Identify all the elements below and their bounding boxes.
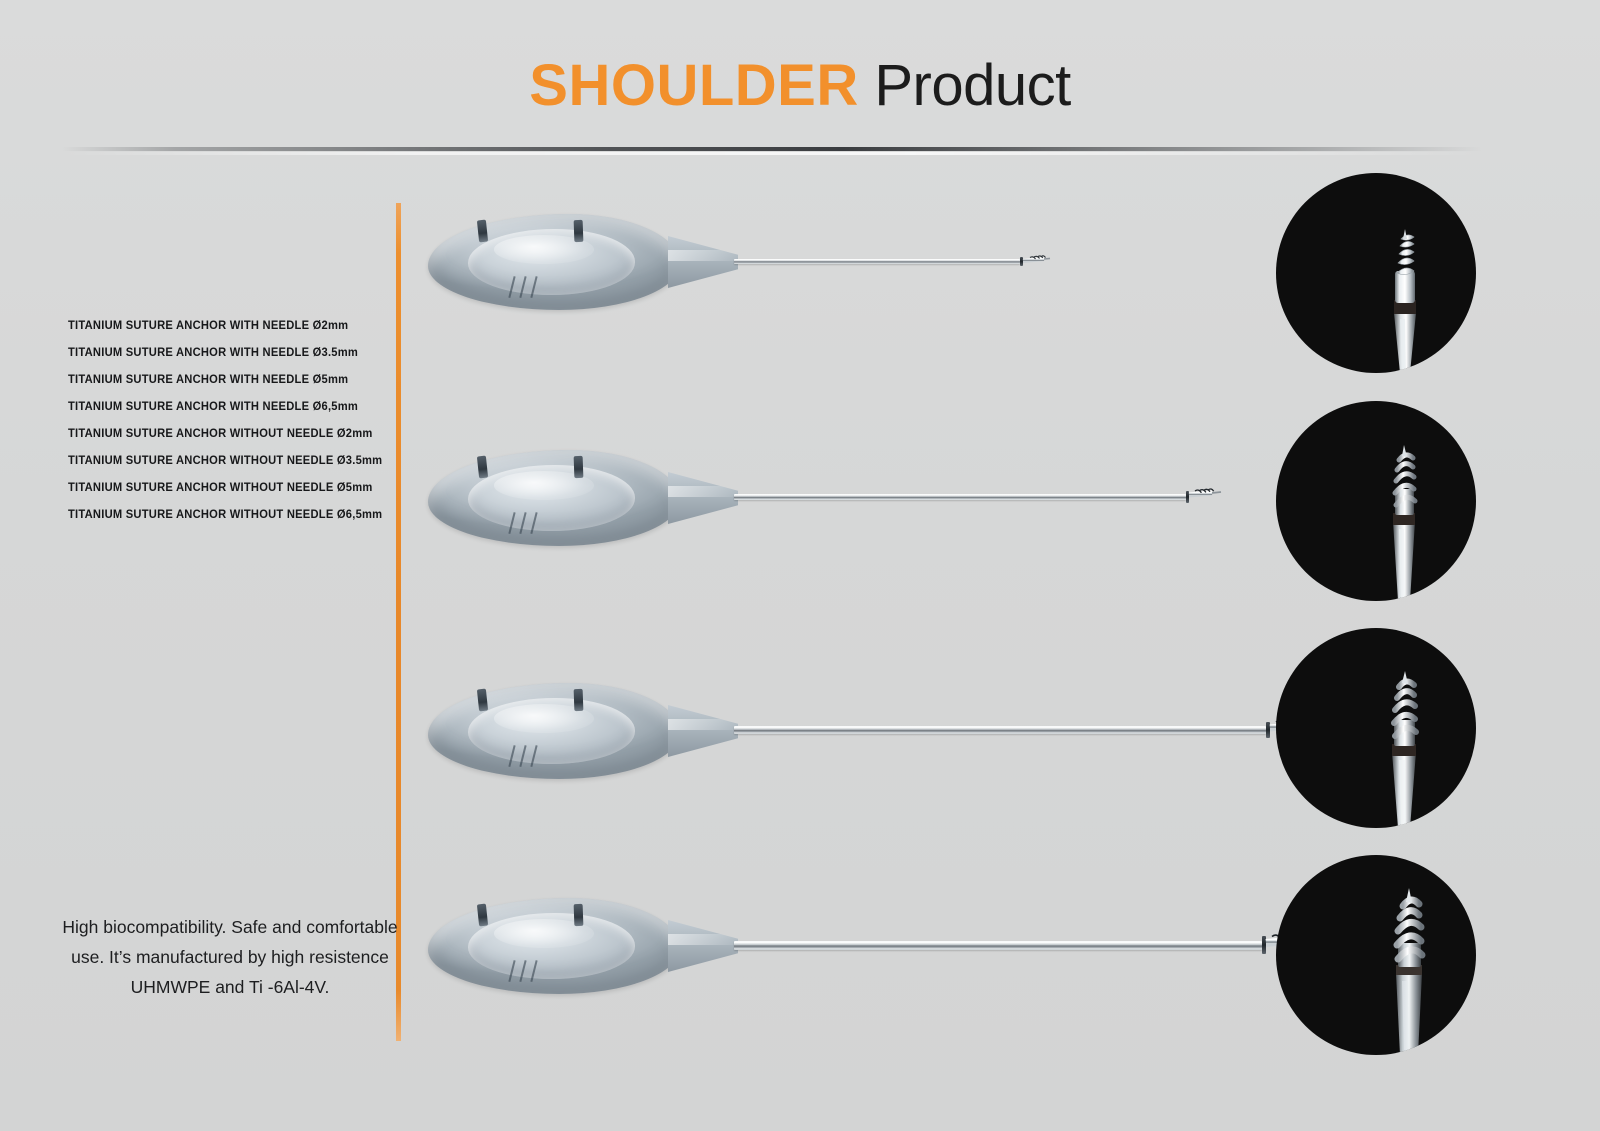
suture-anchor-driver-3-5mm bbox=[420, 432, 1250, 562]
product-description: High biocompatibility. Safe and comforta… bbox=[60, 912, 400, 1002]
handle-grip-lines bbox=[511, 960, 551, 982]
instrument-shaft bbox=[734, 259, 1020, 264]
instrument-neck bbox=[668, 236, 738, 288]
spec-list-item: TITANIUM SUTURE ANCHOR WITH NEEDLE Ø6,5m… bbox=[68, 394, 388, 421]
instrument-neck bbox=[668, 472, 738, 524]
handle-grip-lines bbox=[511, 276, 551, 298]
header-divider-highlight bbox=[62, 152, 1482, 155]
instrument-shaft bbox=[734, 941, 1262, 950]
anchor-tip-icon bbox=[1188, 480, 1224, 510]
instrument-neck bbox=[668, 920, 738, 972]
anchor-tip-icon bbox=[1022, 248, 1052, 274]
anchor-tip-closeup-3-5mm bbox=[1276, 401, 1476, 601]
instrument-handle bbox=[428, 450, 680, 546]
spec-list-item: TITANIUM SUTURE ANCHOR WITHOUT NEEDLE Ø3… bbox=[68, 448, 388, 475]
specification-list: TITANIUM SUTURE ANCHOR WITH NEEDLE Ø2mm … bbox=[68, 313, 398, 529]
anchor-tip-closeup-6-5mm bbox=[1276, 855, 1476, 1055]
spec-list-item: TITANIUM SUTURE ANCHOR WITHOUT NEEDLE Ø5… bbox=[68, 475, 388, 502]
product-image-row bbox=[420, 880, 1250, 1010]
page-title-rest: Product bbox=[859, 53, 1071, 118]
spec-list-item: TITANIUM SUTURE ANCHOR WITHOUT NEEDLE Ø2… bbox=[68, 421, 388, 448]
suture-anchor-driver-2mm bbox=[420, 196, 1250, 326]
header-divider bbox=[62, 147, 1482, 151]
product-image-row bbox=[420, 432, 1250, 562]
anchor-tip-closeup-2mm bbox=[1276, 173, 1476, 373]
instrument-handle bbox=[428, 898, 680, 994]
handle-notch bbox=[574, 220, 584, 242]
spec-list-item: TITANIUM SUTURE ANCHOR WITH NEEDLE Ø2mm bbox=[68, 313, 388, 340]
spec-list-item: TITANIUM SUTURE ANCHOR WITH NEEDLE Ø3.5m… bbox=[68, 340, 388, 367]
instrument-handle bbox=[428, 683, 680, 779]
handle-grip-lines bbox=[511, 512, 551, 534]
product-image-row bbox=[420, 665, 1250, 795]
product-catalog-page: SHOULDER Product TITANIUM SUTURE ANCHOR … bbox=[0, 0, 1600, 1131]
spec-list-item: TITANIUM SUTURE ANCHOR WITH NEEDLE Ø5mm bbox=[68, 367, 388, 394]
spec-list-item: TITANIUM SUTURE ANCHOR WITHOUT NEEDLE Ø6… bbox=[68, 502, 388, 529]
instrument-shaft bbox=[734, 494, 1186, 500]
handle-notch bbox=[574, 904, 584, 926]
page-title-keyword: SHOULDER bbox=[529, 53, 858, 118]
handle-notch bbox=[574, 456, 584, 478]
page-title: SHOULDER Product bbox=[0, 52, 1600, 119]
handle-notch bbox=[574, 689, 584, 711]
handle-grip-lines bbox=[511, 745, 551, 767]
instrument-neck bbox=[668, 705, 738, 757]
instrument-handle bbox=[428, 214, 680, 310]
instrument-shaft bbox=[734, 726, 1266, 734]
suture-anchor-driver-5mm bbox=[420, 665, 1250, 795]
anchor-tip-closeup-5mm bbox=[1276, 628, 1476, 828]
product-image-row bbox=[420, 196, 1250, 326]
suture-anchor-driver-6-5mm bbox=[420, 880, 1250, 1010]
